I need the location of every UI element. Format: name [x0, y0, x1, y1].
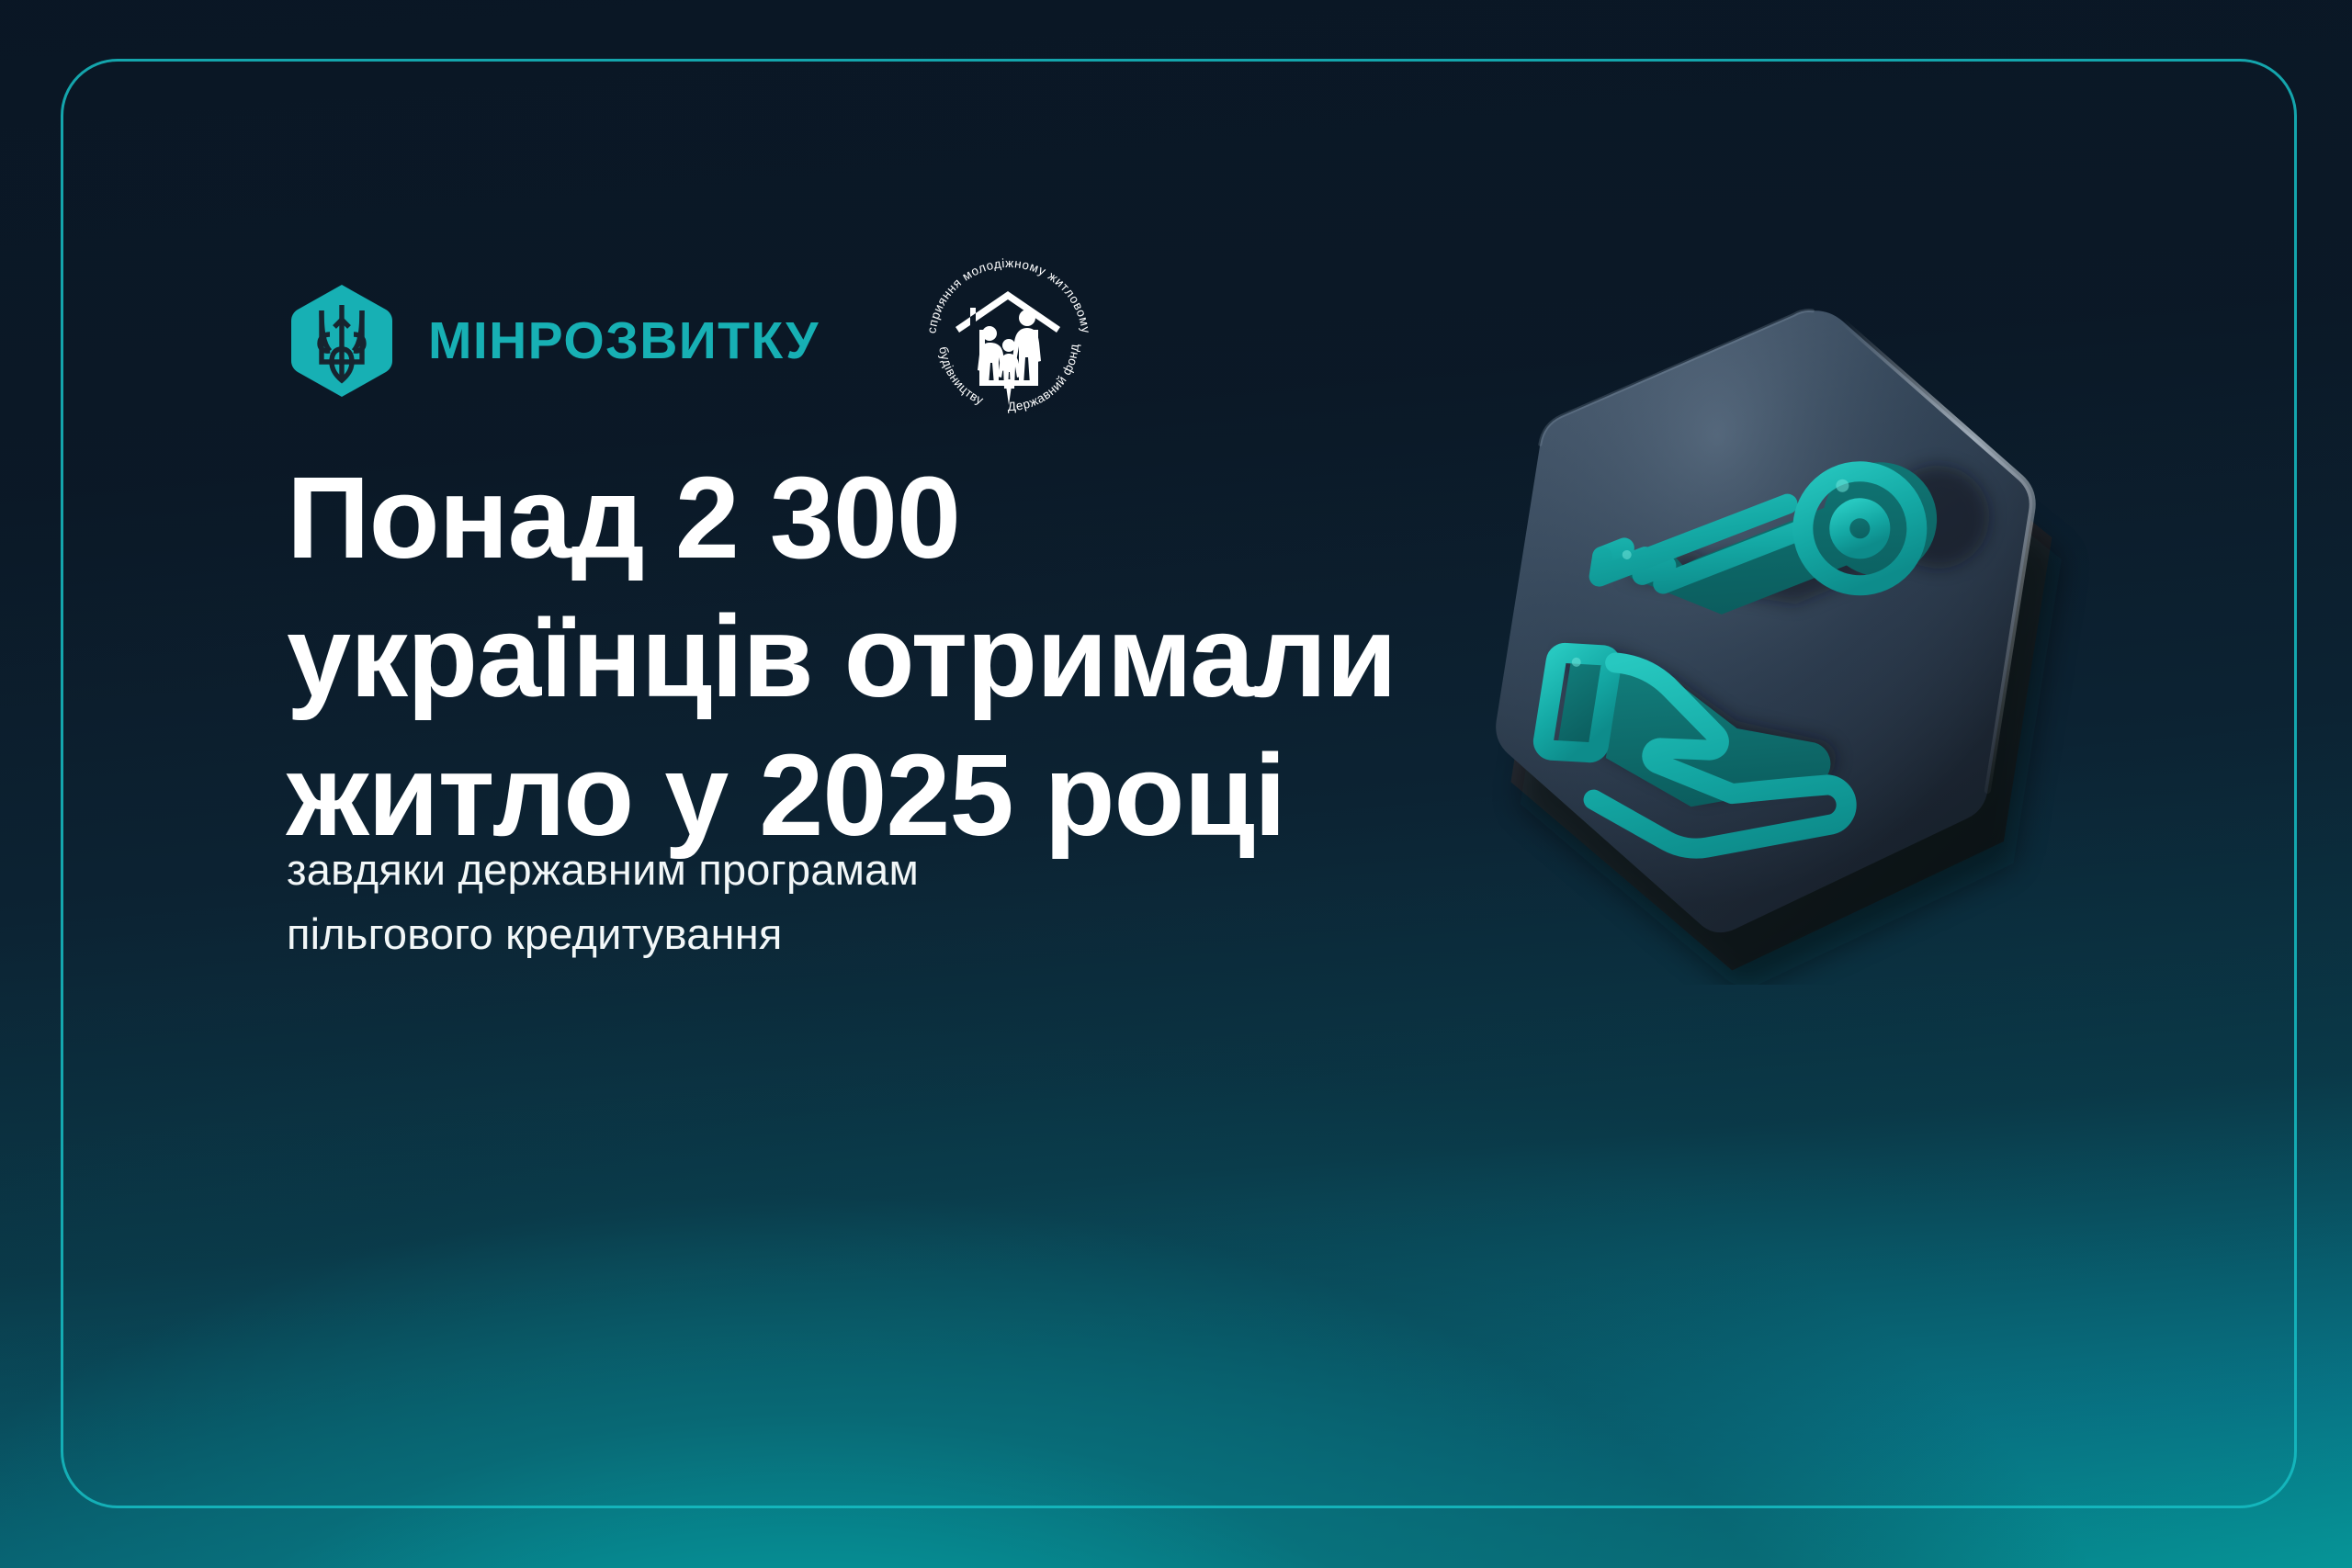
logo-row: МІНРОЗВИТКУ сприяння молодіжному житлово… — [288, 272, 1099, 410]
subtitle: завдяки державним програмам пільгового к… — [287, 838, 1297, 965]
ukraine-trident-emblem-icon — [288, 283, 395, 399]
svg-text:будівництву: будівництву — [936, 345, 986, 407]
headline-line-1: Понад 2 300 — [287, 448, 1371, 587]
subtitle-line-2: пільгового кредитування — [287, 902, 1297, 966]
subtitle-line-1: завдяки державним програмам — [287, 838, 1297, 902]
ministry-logo: МІНРОЗВИТКУ — [288, 283, 820, 399]
poster-canvas: МІНРОЗВИТКУ сприяння молодіжному житлово… — [0, 0, 2352, 1568]
svg-text:Державний фонд: Державний фонд — [1007, 343, 1081, 413]
ministry-wordmark: МІНРОЗВИТКУ — [428, 315, 820, 367]
headline-line-2: українців отримали — [287, 587, 1371, 726]
youth-housing-fund-logo: сприяння молодіжному житловому будівницт… — [919, 251, 1099, 431]
hand-holding-key-badge — [1404, 250, 2120, 985]
headline: Понад 2 300 українців отримали житло у 2… — [287, 448, 1371, 865]
